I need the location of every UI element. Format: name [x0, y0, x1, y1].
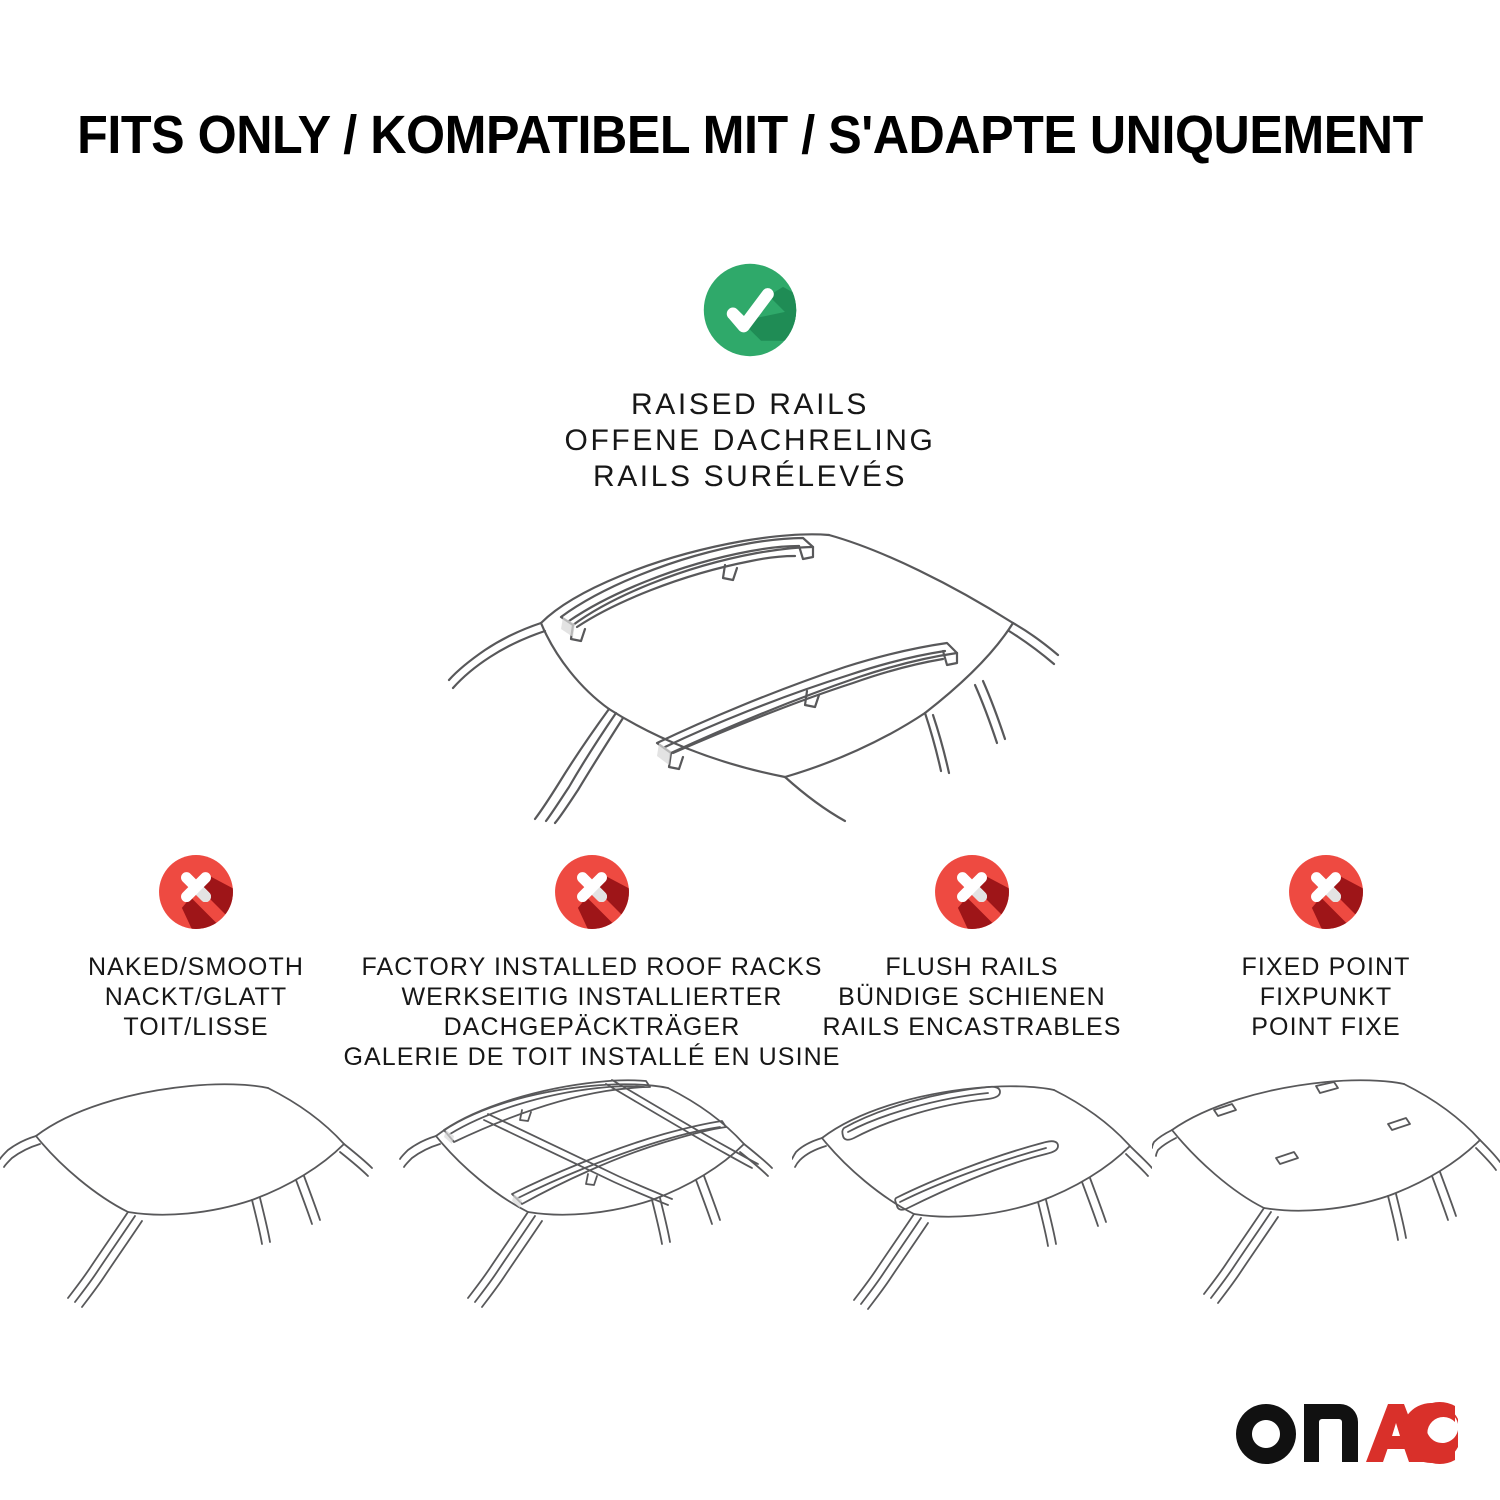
- compatible-section: RAISED RAILS OFFENE DACHRELING RAILS SUR…: [0, 255, 1500, 495]
- brand-logo-omac: [1236, 1402, 1458, 1464]
- caption-line-en: FIXED POINT: [1241, 952, 1410, 982]
- fitment-infographic: FITS ONLY / KOMPATIBEL MIT / S'ADAPTE UN…: [0, 0, 1500, 1500]
- incompatible-item-factory-roof-racks: FACTORY INSTALLED ROOF RACKS WERKSEITIG …: [392, 848, 792, 1072]
- incompatible-caption: FLUSH RAILS BÜNDIGE SCHIENEN RAILS ENCAS…: [822, 952, 1121, 1042]
- page-title: FITS ONLY / KOMPATIBEL MIT / S'ADAPTE UN…: [53, 104, 1448, 166]
- incompatible-item-naked-smooth: NAKED/SMOOTH NACKT/GLATT TOIT/LISSE: [0, 848, 392, 1042]
- car-roof-factory-roof-racks-illustration: [392, 1058, 792, 1321]
- cross-circle-icon: [928, 848, 1016, 936]
- caption-line-de: FIXPUNKT: [1241, 982, 1410, 1012]
- incompatible-item-flush-rails: FLUSH RAILS BÜNDIGE SCHIENEN RAILS ENCAS…: [792, 848, 1152, 1042]
- cross-circle-icon: [1282, 848, 1370, 936]
- cross-circle-icon: [152, 848, 240, 936]
- car-roof-flush-rails-illustration: [792, 1058, 1152, 1321]
- caption-line-fr: RAILS ENCASTRABLES: [822, 1012, 1121, 1042]
- car-roof-naked-smooth-illustration: [0, 1058, 392, 1321]
- caption-line-en: NAKED/SMOOTH: [88, 952, 304, 982]
- incompatible-item-fixed-point: FIXED POINT FIXPUNKT POINT FIXE: [1152, 848, 1500, 1042]
- incompatible-caption: FIXED POINT FIXPUNKT POINT FIXE: [1241, 952, 1410, 1042]
- caption-line-de: BÜNDIGE SCHIENEN: [822, 982, 1121, 1012]
- caption-line-fr: POINT FIXE: [1241, 1012, 1410, 1042]
- compatible-caption: RAISED RAILS OFFENE DACHRELING RAILS SUR…: [565, 387, 936, 495]
- compatible-line-de: OFFENE DACHRELING: [565, 423, 936, 459]
- caption-line-de-1: WERKSEITIG INSTALLIERTER: [343, 982, 840, 1012]
- car-roof-fixed-point-illustration: [1152, 1058, 1500, 1321]
- caption-line-fr: TOIT/LISSE: [88, 1012, 304, 1042]
- caption-line-en: FLUSH RAILS: [822, 952, 1121, 982]
- caption-line-de: NACKT/GLATT: [88, 982, 304, 1012]
- car-roof-raised-rails-illustration: [413, 505, 1093, 835]
- caption-line-de-2: DACHGEPÄCKTRÄGER: [343, 1012, 840, 1042]
- incompatible-illustrations: [0, 1058, 1500, 1321]
- incompatible-caption: FACTORY INSTALLED ROOF RACKS WERKSEITIG …: [343, 952, 840, 1072]
- incompatible-section: NAKED/SMOOTH NACKT/GLATT TOIT/LISSE: [0, 848, 1500, 1072]
- cross-circle-icon: [548, 848, 636, 936]
- incompatible-caption: NAKED/SMOOTH NACKT/GLATT TOIT/LISSE: [88, 952, 304, 1042]
- check-circle-icon: [695, 255, 805, 365]
- compatible-line-fr: RAILS SURÉLEVÉS: [565, 459, 936, 495]
- compatible-line-en: RAISED RAILS: [565, 387, 936, 423]
- caption-line-en: FACTORY INSTALLED ROOF RACKS: [343, 952, 840, 982]
